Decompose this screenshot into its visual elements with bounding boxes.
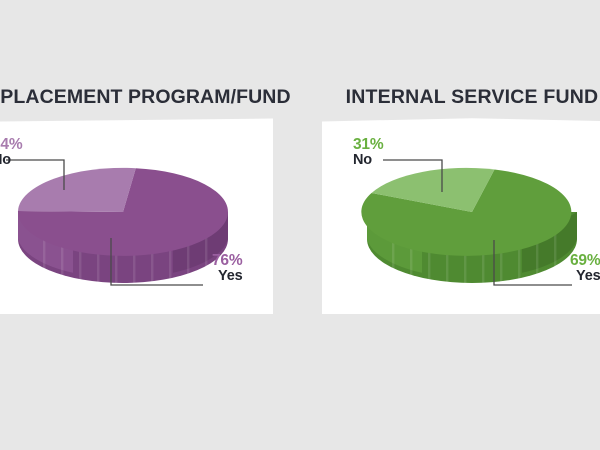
- pie-label-no-answer-right: No: [353, 153, 383, 168]
- pie-label-no-answer-left: No: [0, 153, 22, 168]
- pie-chart-replacement-program-fund: [0, 112, 273, 322]
- pie-label-yes-answer-right: Yes: [570, 269, 600, 284]
- pie-slice-no-left: [18, 168, 136, 212]
- chart-panel-replacement-program-fund: REPLACEMENT PROGRAM/FUND: [0, 0, 273, 450]
- page-title-replacement-program-fund: REPLACEMENT PROGRAM/FUND: [0, 86, 273, 109]
- callout-no-right: 31% No: [353, 137, 383, 168]
- pie-label-yes-answer-left: Yes: [212, 269, 243, 284]
- callout-yes-right: 69% Yes: [570, 253, 600, 284]
- pie-label-yes-percent-left: 76%: [212, 253, 243, 269]
- page-title-internal-service-fund: INTERNAL SERVICE FUND: [322, 86, 600, 109]
- pie-label-no-percent-left: 24%: [0, 137, 22, 153]
- callout-yes-left: 76% Yes: [212, 253, 243, 284]
- pie-label-yes-percent-right: 69%: [570, 253, 600, 269]
- pie-label-no-percent-right: 31%: [353, 137, 383, 153]
- callout-no-left: 24% No: [0, 137, 22, 168]
- chart-panel-internal-service-fund: INTERNAL SERVICE FUND: [322, 0, 600, 450]
- infographic-canvas: REPLACEMENT PROGRAM/FUND: [0, 0, 600, 450]
